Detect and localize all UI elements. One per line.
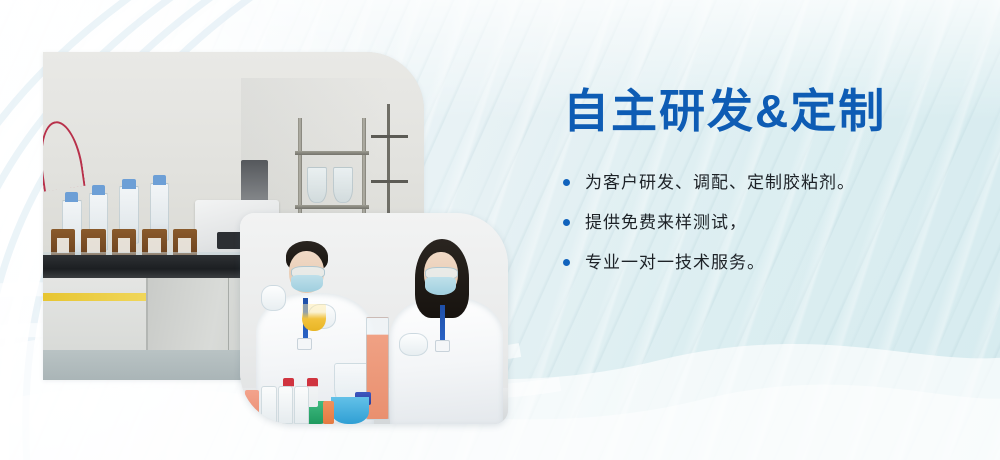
list-item-label: 为客户研发、调配、定制胶粘剂。 xyxy=(585,172,855,194)
banner-headline: 自主研发&定制 xyxy=(563,86,983,138)
bullet-dot-icon xyxy=(563,259,570,266)
orange-tube xyxy=(323,401,334,424)
bullet-dot-icon xyxy=(563,179,570,186)
id-badge xyxy=(435,340,450,352)
rack-shelf xyxy=(295,151,368,155)
yellow-sample-flask xyxy=(302,304,326,331)
list-item-label: 专业一对一技术服务。 xyxy=(585,252,765,274)
stand-clamp xyxy=(371,180,408,183)
banner-feature-list: 为客户研发、调配、定制胶粘剂。 提供免费来样测试， 专业一对一技术服务。 xyxy=(563,172,983,274)
lab-technicians-photo xyxy=(240,213,508,424)
lanyard xyxy=(440,305,445,340)
banner-content: 自主研发&定制 为客户研发、调配、定制胶粘剂。 提供免费来样测试， 专业一对一技… xyxy=(563,86,983,274)
bullet-dot-icon xyxy=(563,219,570,226)
stand-clamp xyxy=(371,135,408,138)
salmon-liquid-tube xyxy=(245,390,258,424)
rack-shelf xyxy=(295,205,368,209)
list-item: 提供免费来样测试， xyxy=(563,212,983,234)
cabinet-yellow-stripe xyxy=(43,293,146,301)
promo-banner: 自主研发&定制 为客户研发、调配、定制胶粘剂。 提供免费来样测试， 专业一对一技… xyxy=(0,0,1000,460)
face-mask xyxy=(425,277,457,295)
technician-female xyxy=(390,297,503,424)
gloved-hand xyxy=(261,285,287,311)
gloved-hand xyxy=(399,333,428,357)
blue-liquid-bowl xyxy=(331,397,369,424)
list-item-label: 提供免费来样测试， xyxy=(585,212,747,234)
id-badge xyxy=(297,338,312,350)
list-item: 专业一对一技术服务。 xyxy=(563,252,983,274)
dropper-bottle xyxy=(261,386,276,424)
face-mask xyxy=(291,275,323,292)
dropper-bottle xyxy=(294,386,309,424)
dropper-bottle xyxy=(278,386,293,424)
list-item: 为客户研发、调配、定制胶粘剂。 xyxy=(563,172,983,194)
rack-flask xyxy=(333,167,353,202)
rack-flask xyxy=(307,167,327,202)
